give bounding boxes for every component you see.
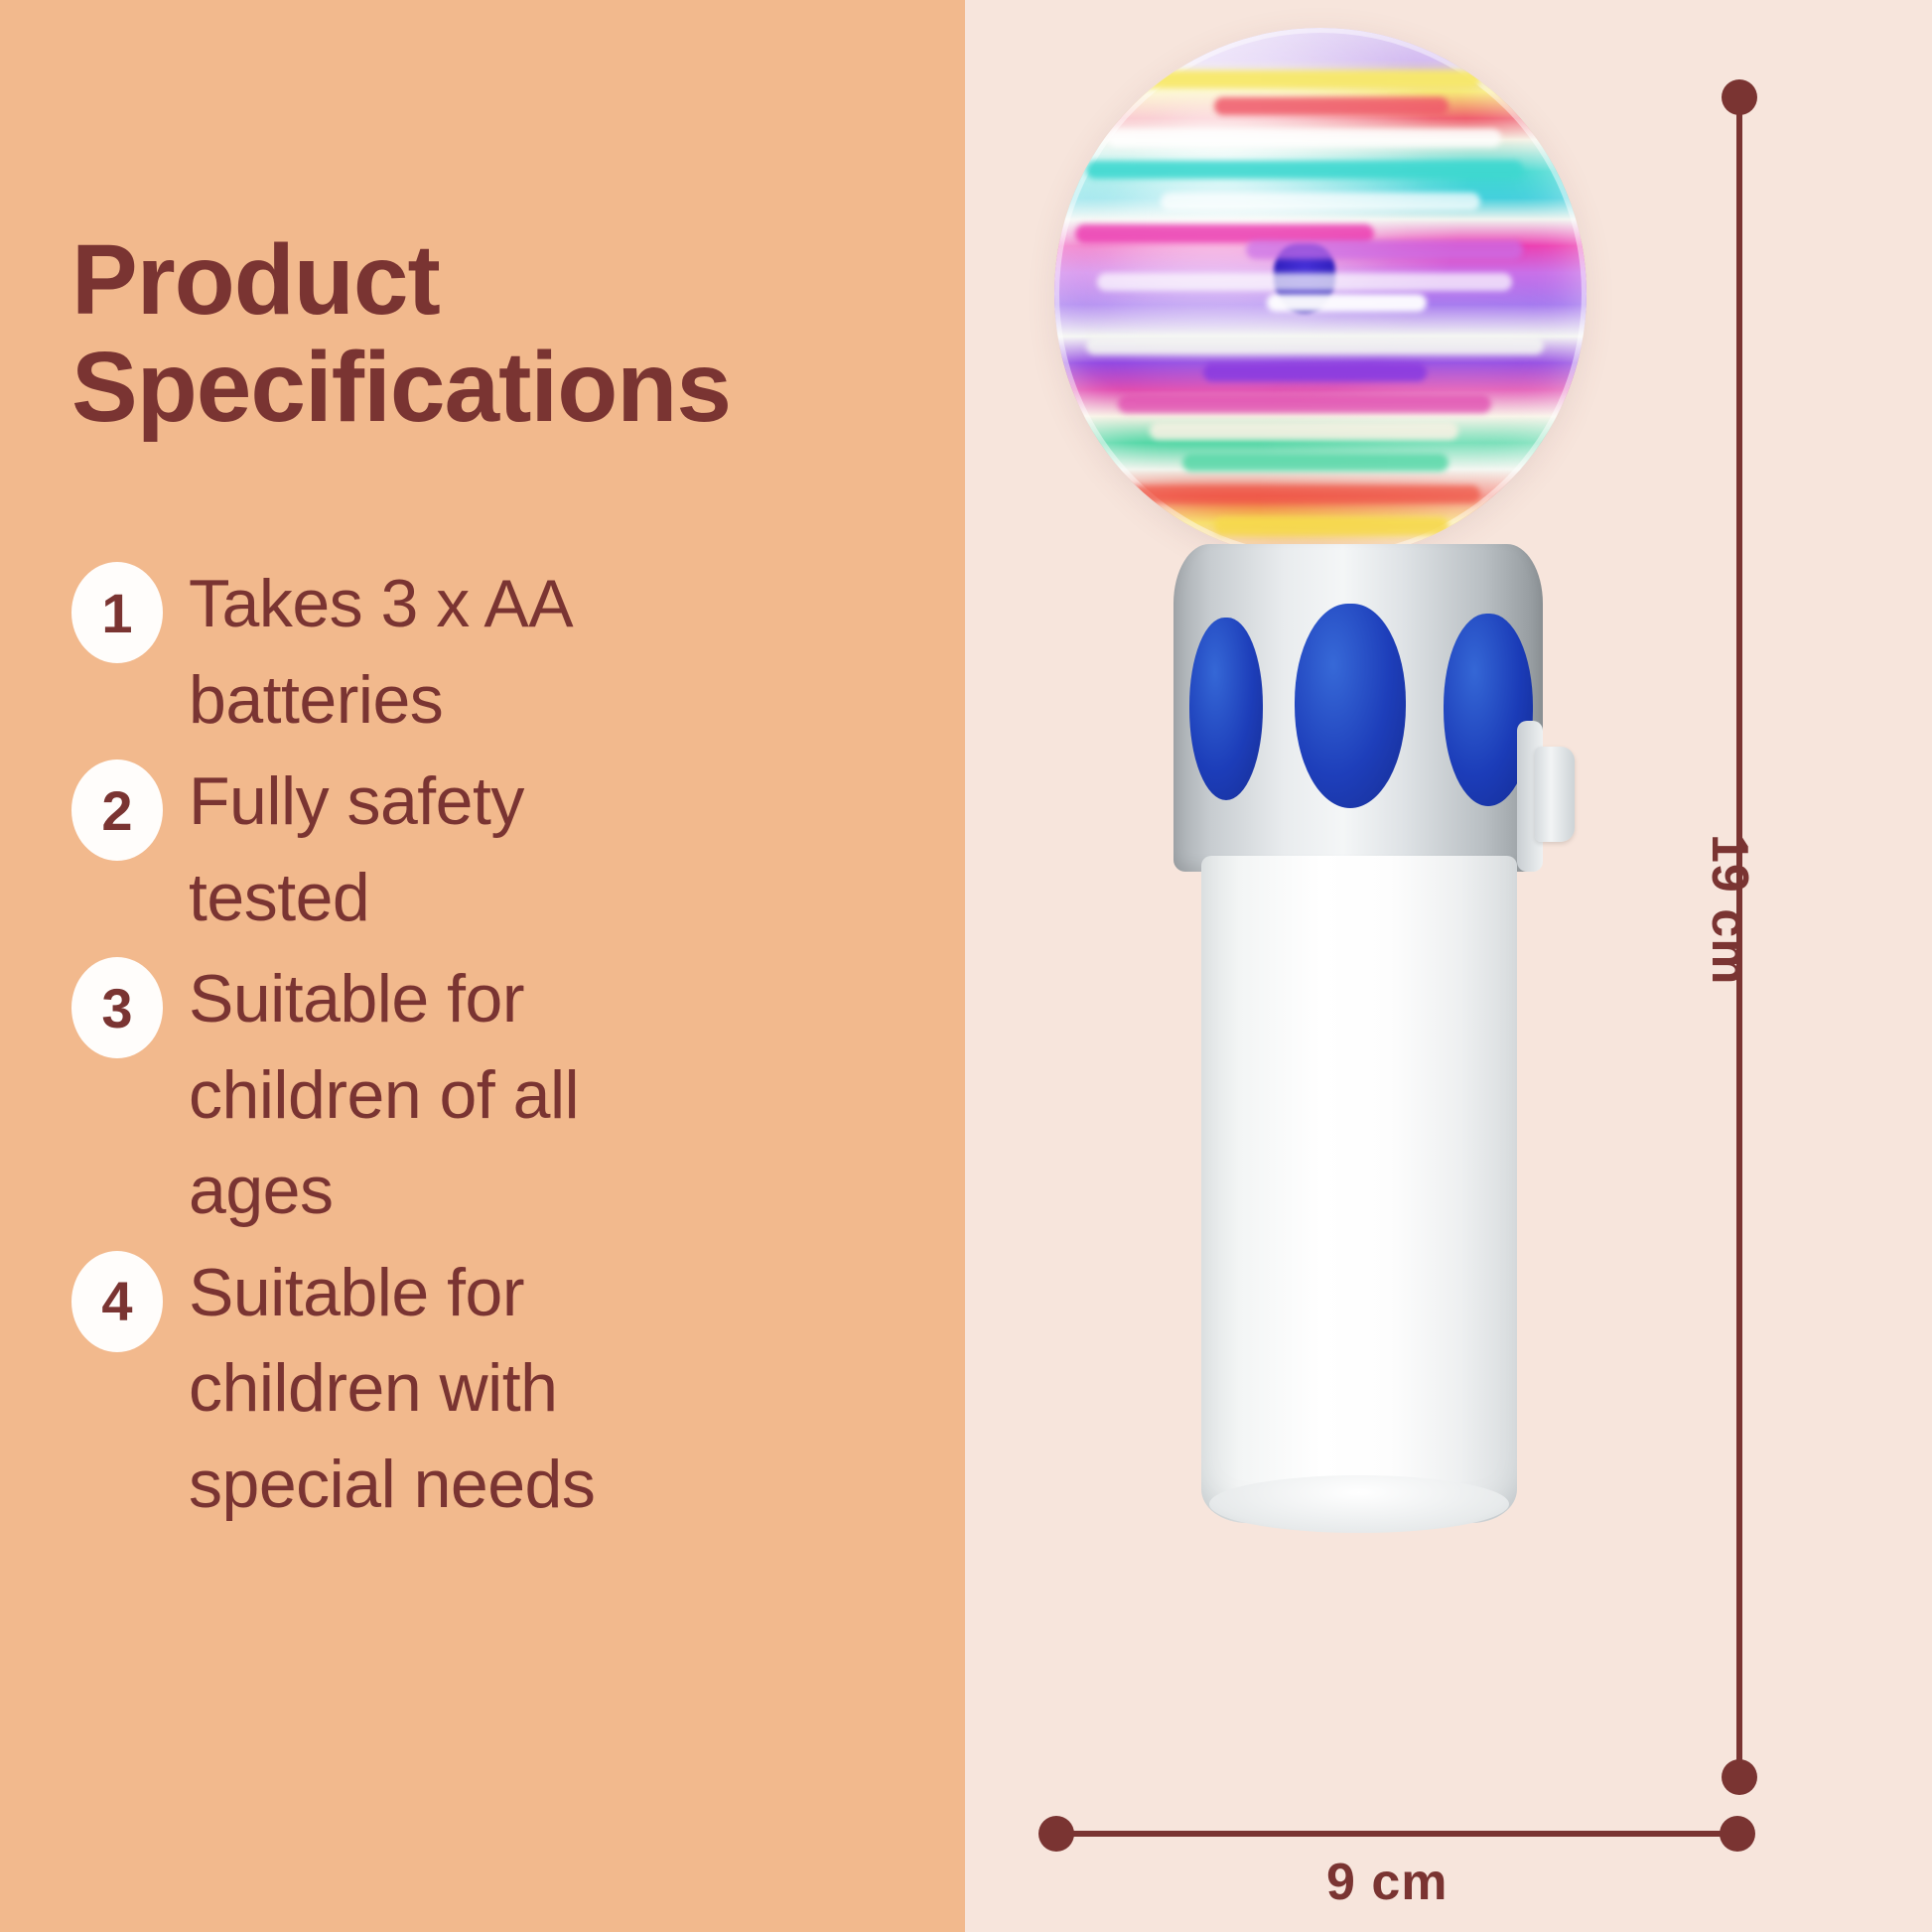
list-item: 4 Suitable for children with special nee… <box>71 1245 945 1533</box>
ball-light-streak <box>1097 273 1512 291</box>
list-item-label: Suitable for children of all ages <box>189 951 715 1239</box>
ball-light-streak <box>1182 454 1449 472</box>
width-dimension-endpoint-left <box>1038 1816 1074 1852</box>
ball-light-streak <box>1214 97 1449 115</box>
ball-light-streak <box>1086 337 1544 354</box>
ball-light-streak <box>1086 161 1523 179</box>
ball-light-streak <box>1246 240 1523 258</box>
collar-blue-oval <box>1189 618 1263 800</box>
ball-light-streak <box>1108 129 1502 147</box>
ball-light-streak <box>1203 363 1427 381</box>
height-dimension-endpoint-top <box>1722 79 1757 115</box>
ball-light-streak <box>1150 422 1458 440</box>
list-item-label: Fully safety tested <box>189 754 715 945</box>
list-item: 3 Suitable for children of all ages <box>71 951 945 1239</box>
list-item-label: Suitable for children with special needs <box>189 1245 715 1533</box>
ball-light-streak <box>1267 294 1427 312</box>
product-photo-panel: 19 cm 9 cm <box>965 0 1932 1932</box>
list-item-number-badge: 2 <box>71 759 163 861</box>
width-dimension-endpoint-right <box>1720 1816 1755 1852</box>
page-title-line-2: Specifications <box>71 334 945 441</box>
width-dimension-line <box>1056 1831 1737 1837</box>
ball-light-streak <box>1118 395 1490 413</box>
page-title-line-1: Product <box>71 226 945 334</box>
ball-light-streak <box>1129 70 1480 88</box>
silver-collar <box>1173 544 1543 872</box>
width-dimension-label: 9 cm <box>1326 1853 1449 1912</box>
list-item-label: Takes 3 x AA batteries <box>189 556 715 748</box>
specifications-list: 1 Takes 3 x AA batteries 2 Fully safety … <box>71 556 945 1538</box>
collar-blue-oval <box>1295 604 1406 808</box>
list-item: 2 Fully safety tested <box>71 754 945 945</box>
list-item-number-badge: 4 <box>71 1251 163 1352</box>
rainbow-light-ball <box>1054 28 1587 560</box>
list-item: 1 Takes 3 x AA batteries <box>71 556 945 748</box>
page-title: Product Specifications <box>71 226 945 441</box>
product-spec-graphic: Product Specifications 1 Takes 3 x AA ba… <box>0 0 1932 1932</box>
handle-base <box>1209 1475 1509 1533</box>
list-item-number-badge: 3 <box>71 957 163 1058</box>
specifications-panel: Product Specifications 1 Takes 3 x AA ba… <box>0 0 965 1932</box>
ball-light-streak <box>1161 193 1480 210</box>
power-switch[interactable] <box>1535 747 1575 842</box>
height-dimension-label: 19 cm <box>1700 834 1759 985</box>
ball-light-streak <box>1214 517 1449 535</box>
white-handle-barrel <box>1201 856 1517 1523</box>
height-dimension-endpoint-bottom <box>1722 1759 1757 1795</box>
list-item-number-badge: 1 <box>71 562 163 663</box>
ball-light-streak <box>1129 485 1480 503</box>
